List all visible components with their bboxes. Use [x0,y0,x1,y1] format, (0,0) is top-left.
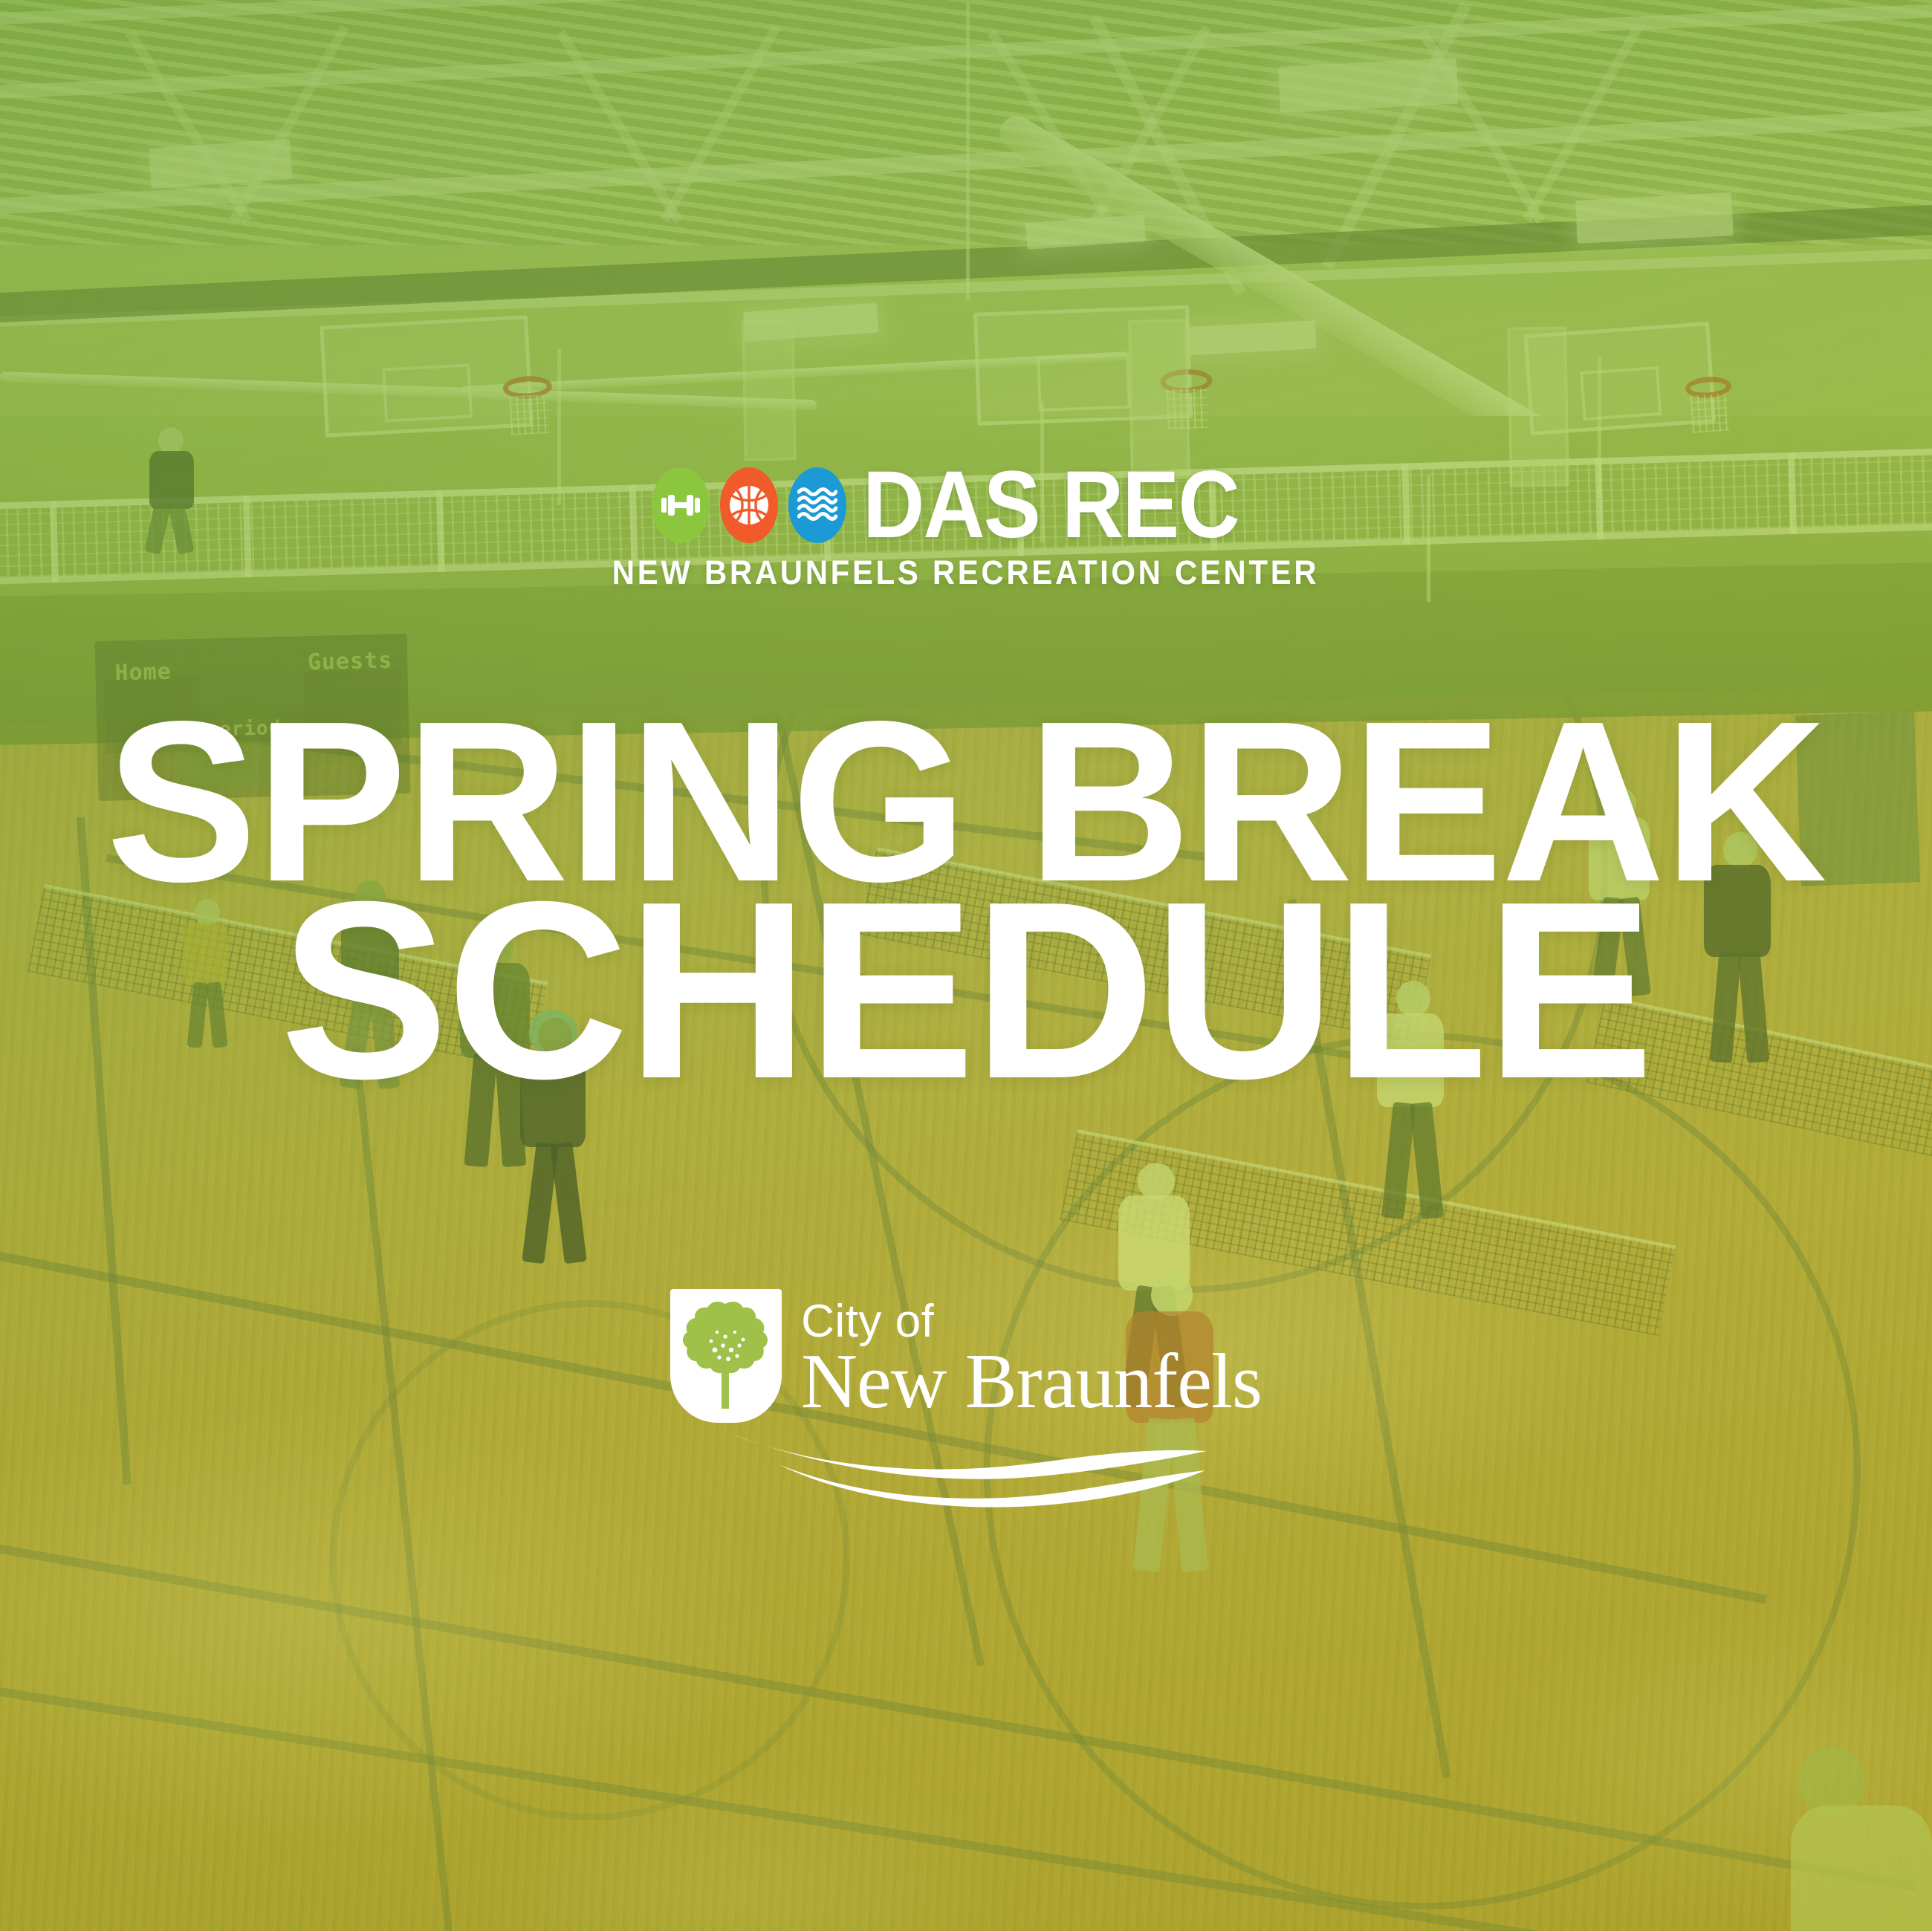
dumbbell-icon [652,467,710,543]
poster-content: DAS REC NEW BRAUNFELS RECREATION CENTER … [0,0,1932,1931]
new-braunfels-label: New Braunfels [801,1342,1262,1420]
city-logo-row: City of New Braunfels [670,1289,1262,1423]
brand-tagline: NEW BRAUNFELS RECREATION CENTER [612,554,1320,592]
das-rec-logo-lockup: DAS REC NEW BRAUNFELS RECREATION CENTER [0,467,1932,592]
headline-block: SPRING BREAK SCHEDULE [0,707,1932,1095]
city-logo-text: City of New Braunfels [801,1289,1262,1420]
river-swoosh-icon [721,1418,1211,1511]
waves-icon [788,467,846,543]
basketball-icon [720,467,778,543]
spring-break-schedule-poster: Home Guests period [0,0,1932,1931]
das-rec-logo-row: DAS REC [652,467,1280,545]
headline-line-2: SCHEDULE [280,886,1652,1095]
tree-crest-icon [670,1289,782,1423]
city-of-new-braunfels-logo: City of New Braunfels [0,1289,1932,1511]
brand-name: DAS REC [863,467,1239,545]
